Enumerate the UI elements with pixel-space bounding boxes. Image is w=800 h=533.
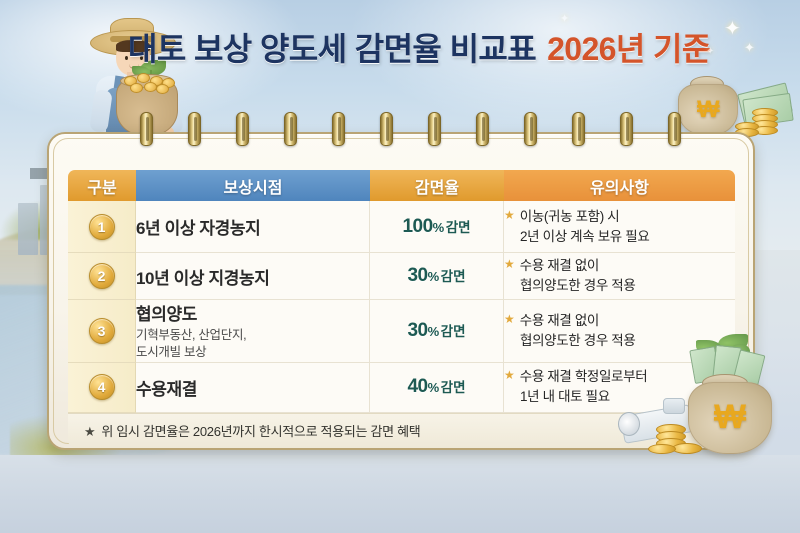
comparison-table: 구분 보상시점 감면율 유의사항 1 6년 이상 자경농지 100%감면 ★ 이… <box>68 170 735 448</box>
row-label-cell: 수용재결 <box>136 363 370 413</box>
row-label: 협의양도 <box>136 300 369 325</box>
row-note-line: 수용 재결 학정일로부터 <box>520 367 648 387</box>
row-rate-percent: % <box>428 324 439 339</box>
row-rate-value: 30 <box>407 265 427 286</box>
row-sublabel: 기혁부동산, 산업단지, 도시개빌 보상 <box>136 327 369 362</box>
won-symbol-icon: ₩ <box>714 398 746 437</box>
spiral-binding <box>47 112 755 148</box>
row-rate-cell: 30%감면 <box>370 300 504 363</box>
row-label: 수용재결 <box>136 375 369 400</box>
sack-coin <box>156 84 169 94</box>
row-rate-suffix: 감면 <box>441 324 466 339</box>
star-icon: ★ <box>84 424 95 439</box>
sparkle-icon: ✦ <box>744 40 755 56</box>
sack-coin <box>144 82 157 92</box>
row-rate-percent: % <box>428 380 439 395</box>
row-note-line: 이농(귀농 포함) 시 <box>520 207 620 227</box>
row-rate-value: 100 <box>402 216 432 237</box>
binding-ring <box>188 112 201 146</box>
row-label: 10년 이상 지경농지 <box>136 264 369 289</box>
row-rate-percent: % <box>433 220 444 235</box>
row-label-cell: 10년 이상 지경농지 <box>136 253 370 300</box>
table-row: 1 6년 이상 자경농지 100%감면 ★ 이농(귀농 포함) 시 2년 이상 … <box>68 201 735 253</box>
star-icon: ★ <box>504 367 515 384</box>
row-rate-cell: 40%감면 <box>370 363 504 413</box>
column-header-note: 유의사항 <box>504 170 735 201</box>
row-number-cell: 1 <box>68 201 136 253</box>
star-icon: ★ <box>504 311 515 328</box>
row-note-line: 수용 재결 없이 <box>520 311 599 331</box>
row-number-cell: 3 <box>68 300 136 363</box>
binding-ring <box>140 112 153 146</box>
row-number-cell: 4 <box>68 363 136 413</box>
binding-ring <box>284 112 297 146</box>
row-rate-value: 40 <box>407 376 427 397</box>
row-rate-suffix: 감면 <box>441 269 466 284</box>
row-note-line: 2년 이상 계속 보유 필요 <box>520 227 649 247</box>
column-header-sijeom: 보상시점 <box>136 170 370 201</box>
row-badge: 4 <box>89 374 115 400</box>
desk-surface <box>0 455 800 533</box>
row-note-line: 협의양도한 경우 적용 <box>520 276 635 296</box>
row-label: 6년 이상 자경농지 <box>136 214 369 239</box>
row-badge: 2 <box>89 263 115 289</box>
gold-coin <box>672 443 702 454</box>
binding-ring <box>236 112 249 146</box>
document-clip <box>663 398 685 414</box>
row-note-line: 1년 내 대토 필요 <box>520 387 610 407</box>
row-label-cell: 6년 이상 자경농지 <box>136 201 370 253</box>
row-note-cell: ★ 수용 재결 없이 협의양도한 경우 적용 <box>504 253 735 300</box>
page-title-accent: 2026년 기준 <box>547 24 711 70</box>
table-header-row: 구분 보상시점 감면율 유의사항 <box>68 170 735 201</box>
star-icon: ★ <box>504 207 515 224</box>
binding-ring <box>524 112 537 146</box>
binding-ring <box>668 112 681 146</box>
footer-note: 위 임시 감면율은 2026년까지 한시적으로 적용되는 감면 혜택 <box>101 424 420 439</box>
column-header-gubun: 구분 <box>68 170 136 201</box>
binding-ring <box>620 112 633 146</box>
row-label-cell: 협의양도 기혁부동산, 산업단지, 도시개빌 보상 <box>136 300 370 363</box>
binding-ring <box>572 112 585 146</box>
page-title: 대토 보상 양도세 감면율 비교표 2026년 기준 <box>128 22 748 72</box>
row-rate-cell: 100%감면 <box>370 201 504 253</box>
row-note-line: 수용 재결 없이 <box>520 256 599 276</box>
column-header-rate: 감면율 <box>370 170 504 201</box>
row-rate-value: 30 <box>407 320 427 341</box>
table-row: 3 협의양도 기혁부동산, 산업단지, 도시개빌 보상 30%감면 ★ 수용 재… <box>68 300 735 363</box>
table-row: 4 수용재결 40%감면 ★ 수용 재결 학정일로부터 1년 내 대토 필요 <box>68 363 735 413</box>
row-badge: 1 <box>89 214 115 240</box>
row-number-cell: 2 <box>68 253 136 300</box>
row-rate-cell: 30%감면 <box>370 253 504 300</box>
sack-coin <box>130 83 143 93</box>
sparkle-icon: ✦ <box>724 16 741 41</box>
sparkle-icon: ✦ <box>706 46 714 57</box>
row-note-line: 협의양도한 경우 적용 <box>520 331 635 351</box>
row-rate-percent: % <box>428 269 439 284</box>
row-rate-suffix: 감면 <box>446 220 471 235</box>
binding-ring <box>332 112 345 146</box>
table-row: 2 10년 이상 지경농지 30%감면 ★ 수용 재결 없이 협의양도한 경우 … <box>68 253 735 300</box>
row-rate-suffix: 감면 <box>441 380 466 395</box>
page-title-main: 대토 보상 양도세 감면율 비교표 <box>128 24 536 70</box>
document-roll-end <box>618 412 640 436</box>
sparkle-icon: ✦ <box>560 12 569 25</box>
binding-ring <box>428 112 441 146</box>
gold-coin <box>648 444 676 454</box>
row-note-cell: ★ 이농(귀농 포함) 시 2년 이상 계속 보유 필요 <box>504 201 735 253</box>
binding-ring <box>380 112 393 146</box>
star-icon: ★ <box>504 256 515 273</box>
row-badge: 3 <box>89 318 115 344</box>
binding-ring <box>476 112 489 146</box>
